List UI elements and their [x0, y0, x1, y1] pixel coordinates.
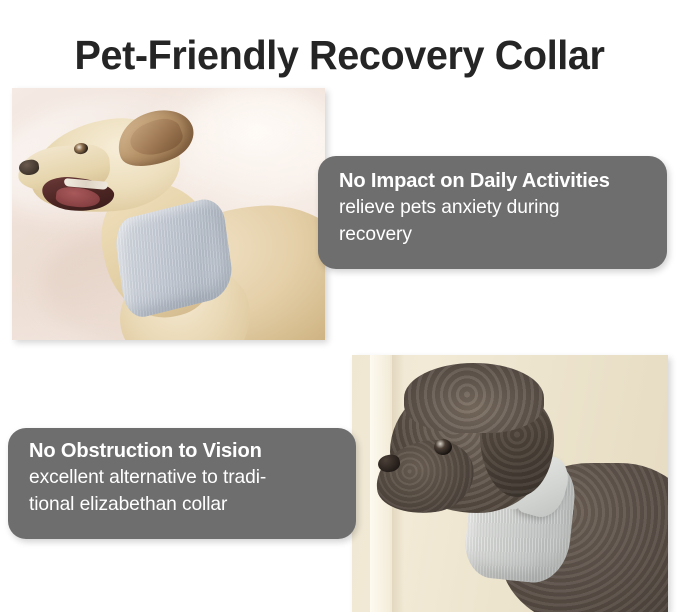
callout-body: relieve pets anxiety during recovery [339, 194, 646, 248]
callout-title: No Obstruction to Vision [29, 437, 334, 464]
callout-body-line: relieve pets anxiety during [339, 194, 646, 221]
photo-dog-poodle-profile [352, 355, 668, 612]
dog-eye [434, 439, 452, 455]
callout-body-line: tional elizabethan collar [29, 491, 335, 518]
dog-topknot [404, 363, 544, 433]
callout-body-line: recovery [339, 221, 646, 248]
callout-title: No Impact on Daily Activities [339, 167, 645, 194]
callout-body: excellent alternative to tradi- tional e… [29, 464, 335, 518]
photo-dog-tan-profile [12, 88, 325, 340]
callout-body-line: excellent alternative to tradi- [29, 464, 335, 491]
callout-no-obstruction-to-vision: No Obstruction to Vision excellent alter… [8, 428, 356, 539]
page-title: Pet-Friendly Recovery Collar [12, 27, 667, 83]
product-infographic: Pet-Friendly Recovery Collar [0, 0, 679, 612]
callout-no-impact-on-daily-activities: No Impact on Daily Activities relieve pe… [318, 156, 667, 269]
